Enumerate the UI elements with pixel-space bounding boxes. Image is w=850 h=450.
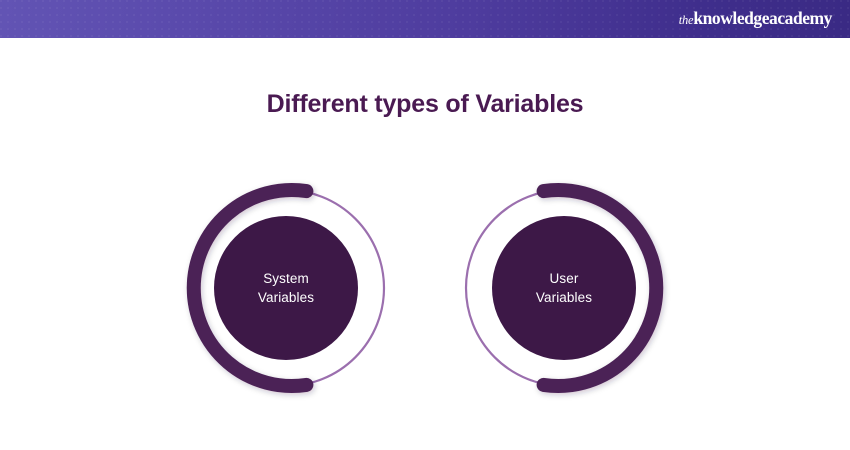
circle-node-system-variables[interactable]: System Variables: [181, 183, 391, 393]
logo-prefix-text: the: [679, 13, 694, 27]
inner-disc-user-variables: [492, 216, 636, 360]
circle-node-user-variables[interactable]: User Variables: [459, 183, 669, 393]
diagram-container: System Variables User Variables: [0, 38, 850, 450]
ring-graphic-system-variables: [181, 183, 391, 393]
brand-logo[interactable]: theknowledgeacademy: [679, 10, 832, 28]
inner-disc-system-variables: [214, 216, 358, 360]
page-header: theknowledgeacademy: [0, 0, 850, 38]
ring-graphic-user-variables: [459, 183, 669, 393]
logo-name-text: knowledgeacademy: [693, 8, 832, 28]
